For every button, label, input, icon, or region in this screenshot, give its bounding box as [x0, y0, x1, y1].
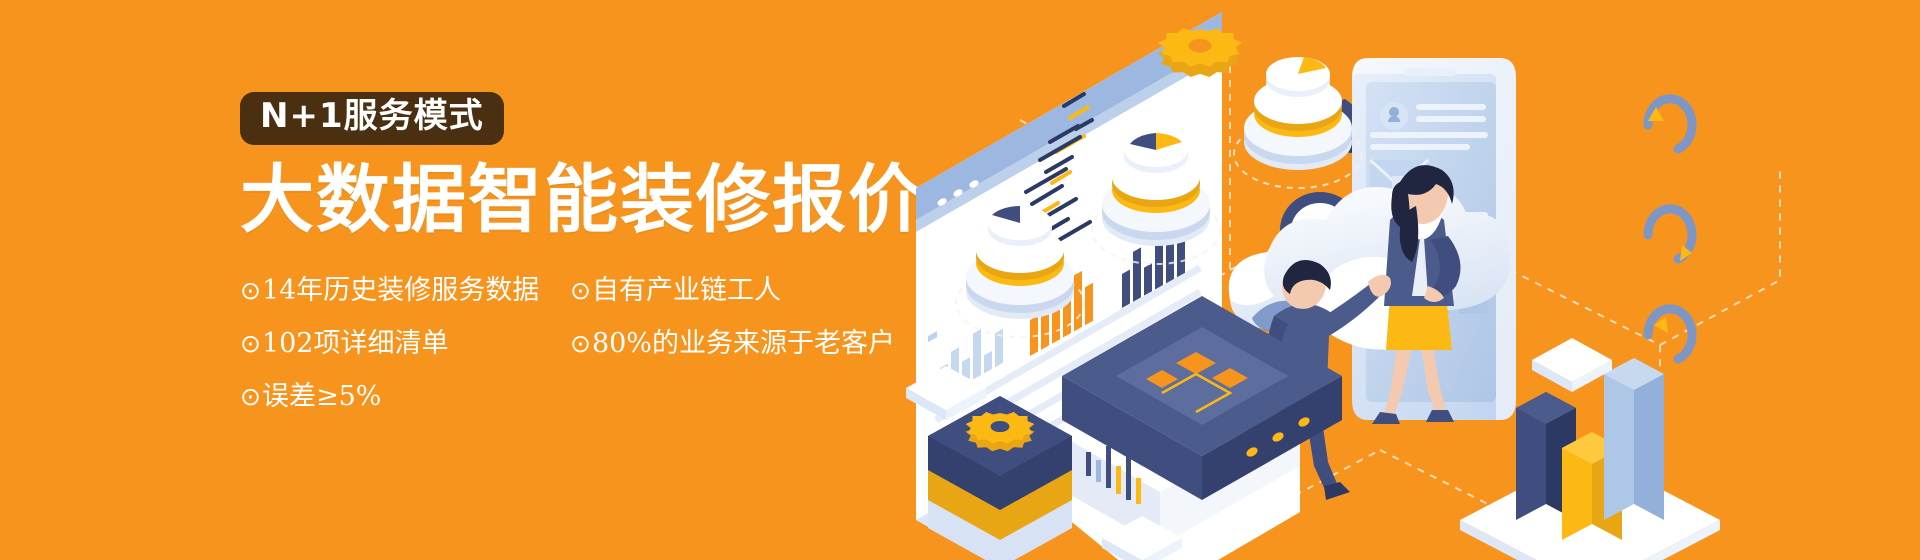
- list-item-label: 102项详细清单: [262, 328, 449, 359]
- list-item: ⊙102项详细清单: [240, 317, 560, 370]
- bullet-icon: ⊙: [240, 329, 261, 358]
- list-item-label: 自有产业链工人: [592, 275, 781, 306]
- bar-light-blue: [1604, 358, 1664, 520]
- bullet-icon: ⊙: [570, 329, 591, 358]
- list-item: ⊙误差≥5%: [240, 370, 560, 423]
- page-title: 大数据智能装修报价: [240, 163, 1000, 238]
- floating-tile-3: [1532, 338, 1612, 392]
- promo-banner: N+1服务模式 大数据智能装修报价 ⊙14年历史装修服务数据 ⊙自有产业链工人 …: [0, 0, 1920, 560]
- list-item: ⊙14年历史装修服务数据: [240, 264, 560, 317]
- service-model-badge: N+1服务模式: [240, 92, 504, 145]
- refresh-ring-3: [1648, 309, 1692, 359]
- banner-copy: N+1服务模式 大数据智能装修报价 ⊙14年历史装修服务数据 ⊙自有产业链工人 …: [240, 92, 1000, 423]
- refresh-ring-2: [1648, 209, 1692, 261]
- list-item-label: 误差≥5%: [262, 381, 381, 412]
- bullet-icon: ⊙: [240, 276, 261, 305]
- list-item-label: 80%的业务来源于老客户: [592, 328, 895, 359]
- feature-list: ⊙14年历史装修服务数据 ⊙自有产业链工人 ⊙102项详细清单 ⊙80%的业务来…: [240, 264, 1000, 423]
- isometric-illustration: [900, 0, 1920, 560]
- list-item-label: 14年历史装修服务数据: [262, 275, 539, 306]
- bullet-icon: ⊙: [240, 382, 261, 411]
- bullet-icon: ⊙: [570, 276, 591, 305]
- refresh-ring-1: [1648, 99, 1692, 149]
